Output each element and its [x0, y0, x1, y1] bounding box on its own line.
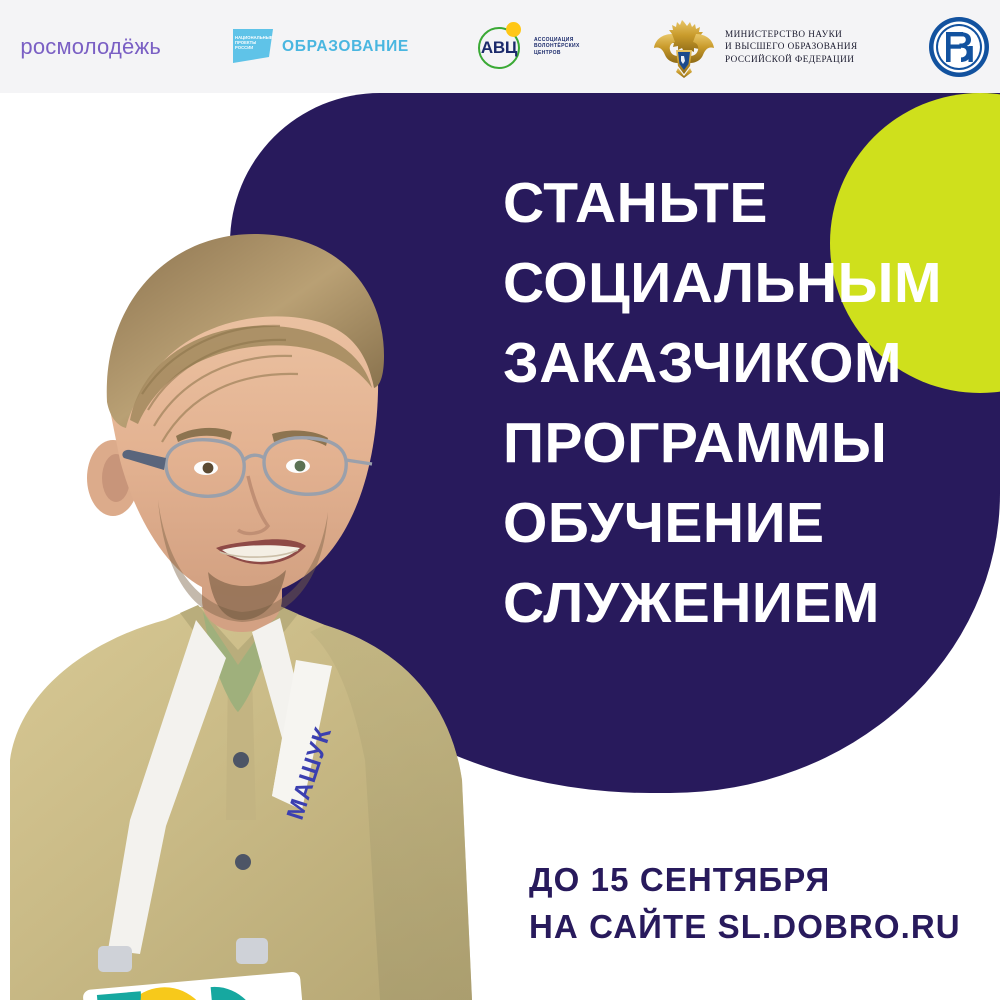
ministry-of-science-and-higher-education-logo: МИНИСТЕРСТВО НАУКИ И ВЫСШЕГО ОБРАЗОВАНИЯ…	[652, 16, 858, 78]
avc-subtitle: АССОЦИАЦИЯ ВОЛОНТЁРСКИХ ЦЕНТРОВ	[534, 37, 590, 56]
headline-line-2: СОЦИАЛЬНЫМ	[503, 243, 993, 323]
rosmolodezh-logo: росмолодёжь	[10, 34, 161, 60]
avc-dot-icon	[506, 22, 521, 37]
page-title: СТАНЬТЕ СОЦИАЛЬНЫМ ЗАКАЗЧИКОМ ПРОГРАММЫ …	[503, 163, 993, 643]
cta-website[interactable]: НА САЙТЕ SL.DOBRO.RU	[529, 903, 961, 950]
national-project-flag-icon: НАЦИОНАЛЬНЫЕ ПРОЕКТЫ РОССИИ	[229, 27, 275, 67]
national-project-flag-caption: НАЦИОНАЛЬНЫЕ ПРОЕКТЫ РОССИИ	[235, 35, 267, 51]
hse-logo	[928, 16, 990, 78]
promo-poster: росмолодёжь НАЦИОНАЛЬНЫЕ ПРОЕКТЫ РОССИИ …	[0, 0, 1000, 1000]
double-headed-eagle-icon	[652, 16, 716, 78]
call-to-action: ДО 15 СЕНТЯБРЯ НА САЙТЕ SL.DOBRO.RU	[529, 856, 961, 950]
ministry-name: МИНИСТЕРСТВО НАУКИ И ВЫСШЕГО ОБРАЗОВАНИЯ…	[725, 28, 858, 66]
avc-monogram: АВЦ	[475, 38, 523, 58]
headline-line-6: СЛУЖЕНИЕМ	[503, 563, 993, 643]
partner-logo-strip: росмолодёжь НАЦИОНАЛЬНЫЕ ПРОЕКТЫ РОССИИ …	[0, 0, 1000, 93]
rosmolodezh-wordmark: росмолодёжь	[20, 34, 161, 60]
hse-seal-icon	[928, 16, 990, 78]
smiling-man-portrait: МАШУК ОБУЧЕНИЕ СЛУЖЕНИЕМ	[0, 120, 540, 1000]
avc-mark-icon: АВЦ	[475, 19, 527, 75]
headline-line-3: ЗАКАЗЧИКОМ	[503, 323, 993, 403]
headline-line-5: ОБУЧЕНИЕ	[503, 483, 993, 563]
headline-line-4: ПРОГРАММЫ	[503, 403, 993, 483]
education-wordmark: ОБРАЗОВАНИЕ	[282, 38, 409, 56]
national-project-education-logo: НАЦИОНАЛЬНЫЕ ПРОЕКТЫ РОССИИ ОБРАЗОВАНИЕ	[229, 27, 409, 67]
cta-deadline: ДО 15 СЕНТЯБРЯ	[529, 856, 961, 903]
headline-line-1: СТАНЬТЕ	[503, 163, 993, 243]
avc-logo: АВЦ АССОЦИАЦИЯ ВОЛОНТЁРСКИХ ЦЕНТРОВ	[475, 19, 590, 75]
